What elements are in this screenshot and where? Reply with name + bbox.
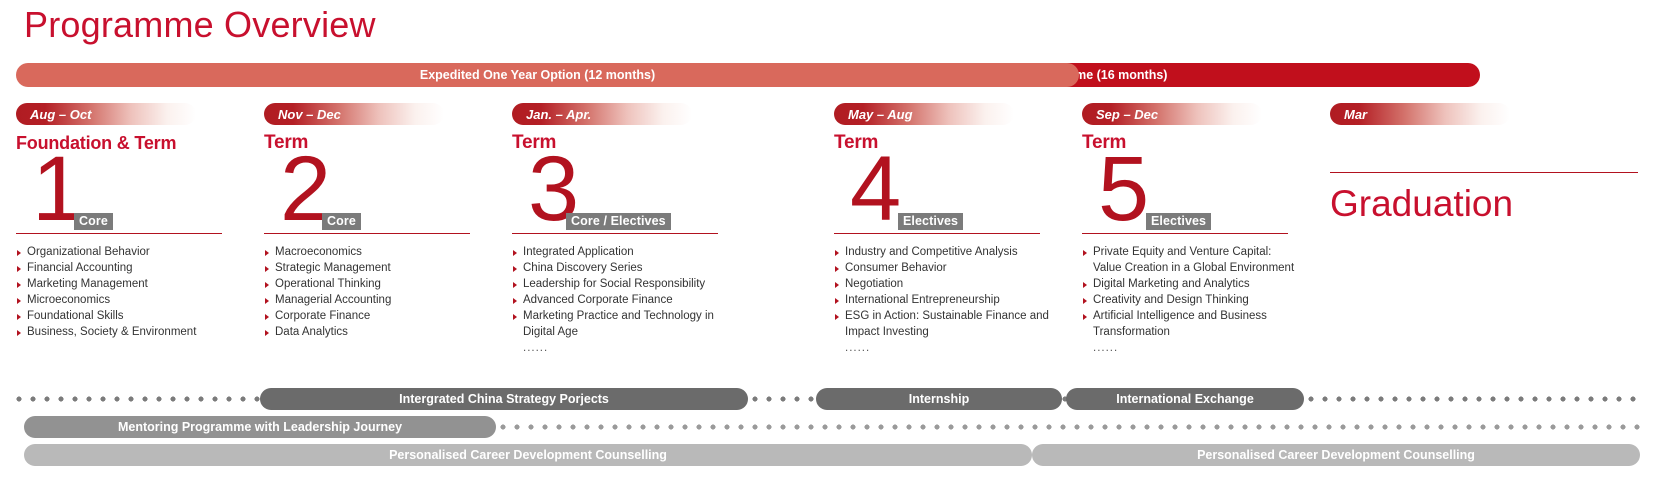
term-numeral-row: 2 Core [264, 155, 496, 233]
list-item: Strategic Management [264, 261, 496, 277]
list-item-continuation: Value Creation in a Global Environment [1082, 261, 1314, 277]
period-label: Nov – Dec [264, 107, 341, 122]
list-item: Leadership for Social Responsibility [512, 277, 744, 293]
track-bar-expedited-one-year[interactable]: Expedited One Year Option (12 months) [16, 63, 1079, 87]
list-item: Digital Marketing and Analytics [1082, 277, 1314, 293]
term-numeral: 4 [850, 143, 901, 235]
bar-label: Personalised Career Development Counsell… [389, 448, 667, 462]
list-item: Marketing Management [16, 277, 248, 293]
list-item: Organizational Behavior [16, 245, 248, 261]
graduation-label: Graduation [1330, 183, 1513, 225]
dotted-connector [1308, 396, 1640, 402]
list-item: Business, Society & Environment [16, 325, 248, 341]
list-item: Artificial Intelligence and Business [1082, 309, 1314, 325]
dotted-connector [752, 396, 814, 402]
list-item: Operational Thinking [264, 277, 496, 293]
period-pill: May – Aug [834, 103, 1014, 125]
list-item-more: ...... [1082, 341, 1314, 357]
term-column-3: Jan. – Apr. Term 3 Core / Electives Inte… [512, 103, 744, 357]
mentoring-track-row: Mentoring Programme with Leadership Jour… [16, 416, 1640, 438]
experiential-track-row: Intergrated China Strategy Porjects Inte… [16, 388, 1640, 410]
period-label: Aug – Oct [16, 107, 91, 122]
period-label: Jan. – Apr. [512, 107, 591, 122]
list-item: Creativity and Design Thinking [1082, 293, 1314, 309]
list-item-more: ...... [512, 341, 744, 357]
period-label: May – Aug [834, 107, 913, 122]
course-list: Integrated Application China Discovery S… [512, 245, 744, 357]
list-item-continuation: Transformation [1082, 325, 1314, 341]
bar-label: Mentoring Programme with Leadership Jour… [118, 420, 402, 434]
list-item: Negotiation [834, 277, 1066, 293]
bar-mentoring-programme[interactable]: Mentoring Programme with Leadership Jour… [24, 416, 496, 438]
term-numeral-row: 1 Core [16, 155, 248, 233]
bar-internship[interactable]: Internship [816, 388, 1062, 410]
list-item: China Discovery Series [512, 261, 744, 277]
list-item-continuation: Digital Age [512, 325, 744, 341]
bar-label: Intergrated China Strategy Porjects [399, 392, 609, 406]
programme-length-track: Regular Length Programme (16 months) Exp… [16, 63, 1480, 87]
list-item: Financial Accounting [16, 261, 248, 277]
term-column-2: Nov – Dec Term 2 Core Macroeconomics Str… [264, 103, 496, 341]
bar-label: Personalised Career Development Counsell… [1197, 448, 1475, 462]
list-item: Managerial Accounting [264, 293, 496, 309]
bar-international-exchange[interactable]: International Exchange [1066, 388, 1304, 410]
term-numeral-row: 3 Core / Electives [512, 155, 744, 233]
term-column-1: Aug – Oct Foundation & Term 1 Core Organ… [16, 103, 248, 341]
period-label: Mar [1330, 107, 1367, 122]
term-type-tag: Core [322, 213, 361, 230]
list-item: ESG in Action: Sustainable Finance and [834, 309, 1066, 325]
term-type-tag: Core / Electives [566, 213, 671, 230]
bar-career-counselling-right[interactable]: Personalised Career Development Counsell… [1032, 444, 1640, 466]
graduation-column: Mar Graduation [1330, 103, 1638, 173]
term-numeral-row: 5 Electives [1082, 155, 1314, 233]
dotted-connector [500, 424, 1640, 430]
list-item: Corporate Finance [264, 309, 496, 325]
term-type-tag: Core [74, 213, 113, 230]
term-column-4: May – Aug Term 4 Electives Industry and … [834, 103, 1066, 357]
list-item: Marketing Practice and Technology in [512, 309, 744, 325]
list-item: Microeconomics [16, 293, 248, 309]
career-track-row: Personalised Career Development Counsell… [16, 444, 1640, 466]
course-list: Organizational Behavior Financial Accoun… [16, 245, 248, 341]
period-pill: Mar [1330, 103, 1510, 125]
list-item-more: ...... [834, 341, 1066, 357]
term-type-tag: Electives [898, 213, 963, 230]
list-item: Foundational Skills [16, 309, 248, 325]
course-list: Industry and Competitive Analysis Consum… [834, 245, 1066, 357]
term-column-5: Sep – Dec Term 5 Electives Private Equit… [1082, 103, 1314, 357]
bar-integrated-china-strategy-projects[interactable]: Intergrated China Strategy Porjects [260, 388, 748, 410]
course-list: Macroeconomics Strategic Management Oper… [264, 245, 496, 341]
column-divider [1330, 172, 1638, 173]
period-label: Sep – Dec [1082, 107, 1158, 122]
list-item: Industry and Competitive Analysis [834, 245, 1066, 261]
bar-career-counselling-left[interactable]: Personalised Career Development Counsell… [24, 444, 1032, 466]
list-item: Advanced Corporate Finance [512, 293, 744, 309]
bar-label: Internship [909, 392, 969, 406]
period-pill: Sep – Dec [1082, 103, 1262, 125]
list-item: Private Equity and Venture Capital: [1082, 245, 1314, 261]
list-item: Consumer Behavior [834, 261, 1066, 277]
term-numeral: 5 [1098, 143, 1149, 235]
list-item: International Entrepreneurship [834, 293, 1066, 309]
period-pill: Jan. – Apr. [512, 103, 692, 125]
bar-label: International Exchange [1116, 392, 1254, 406]
track-label-expedited: Expedited One Year Option (12 months) [420, 68, 655, 82]
list-item: Integrated Application [512, 245, 744, 261]
page-title: Programme Overview [24, 4, 376, 46]
period-pill: Aug – Oct [16, 103, 196, 125]
period-pill: Nov – Dec [264, 103, 444, 125]
course-list: Private Equity and Venture Capital: Valu… [1082, 245, 1314, 357]
term-type-tag: Electives [1146, 213, 1211, 230]
list-item-continuation: Impact Investing [834, 325, 1066, 341]
dotted-connector [16, 396, 268, 402]
list-item: Macroeconomics [264, 245, 496, 261]
term-numeral-row: 4 Electives [834, 155, 1066, 233]
list-item: Data Analytics [264, 325, 496, 341]
